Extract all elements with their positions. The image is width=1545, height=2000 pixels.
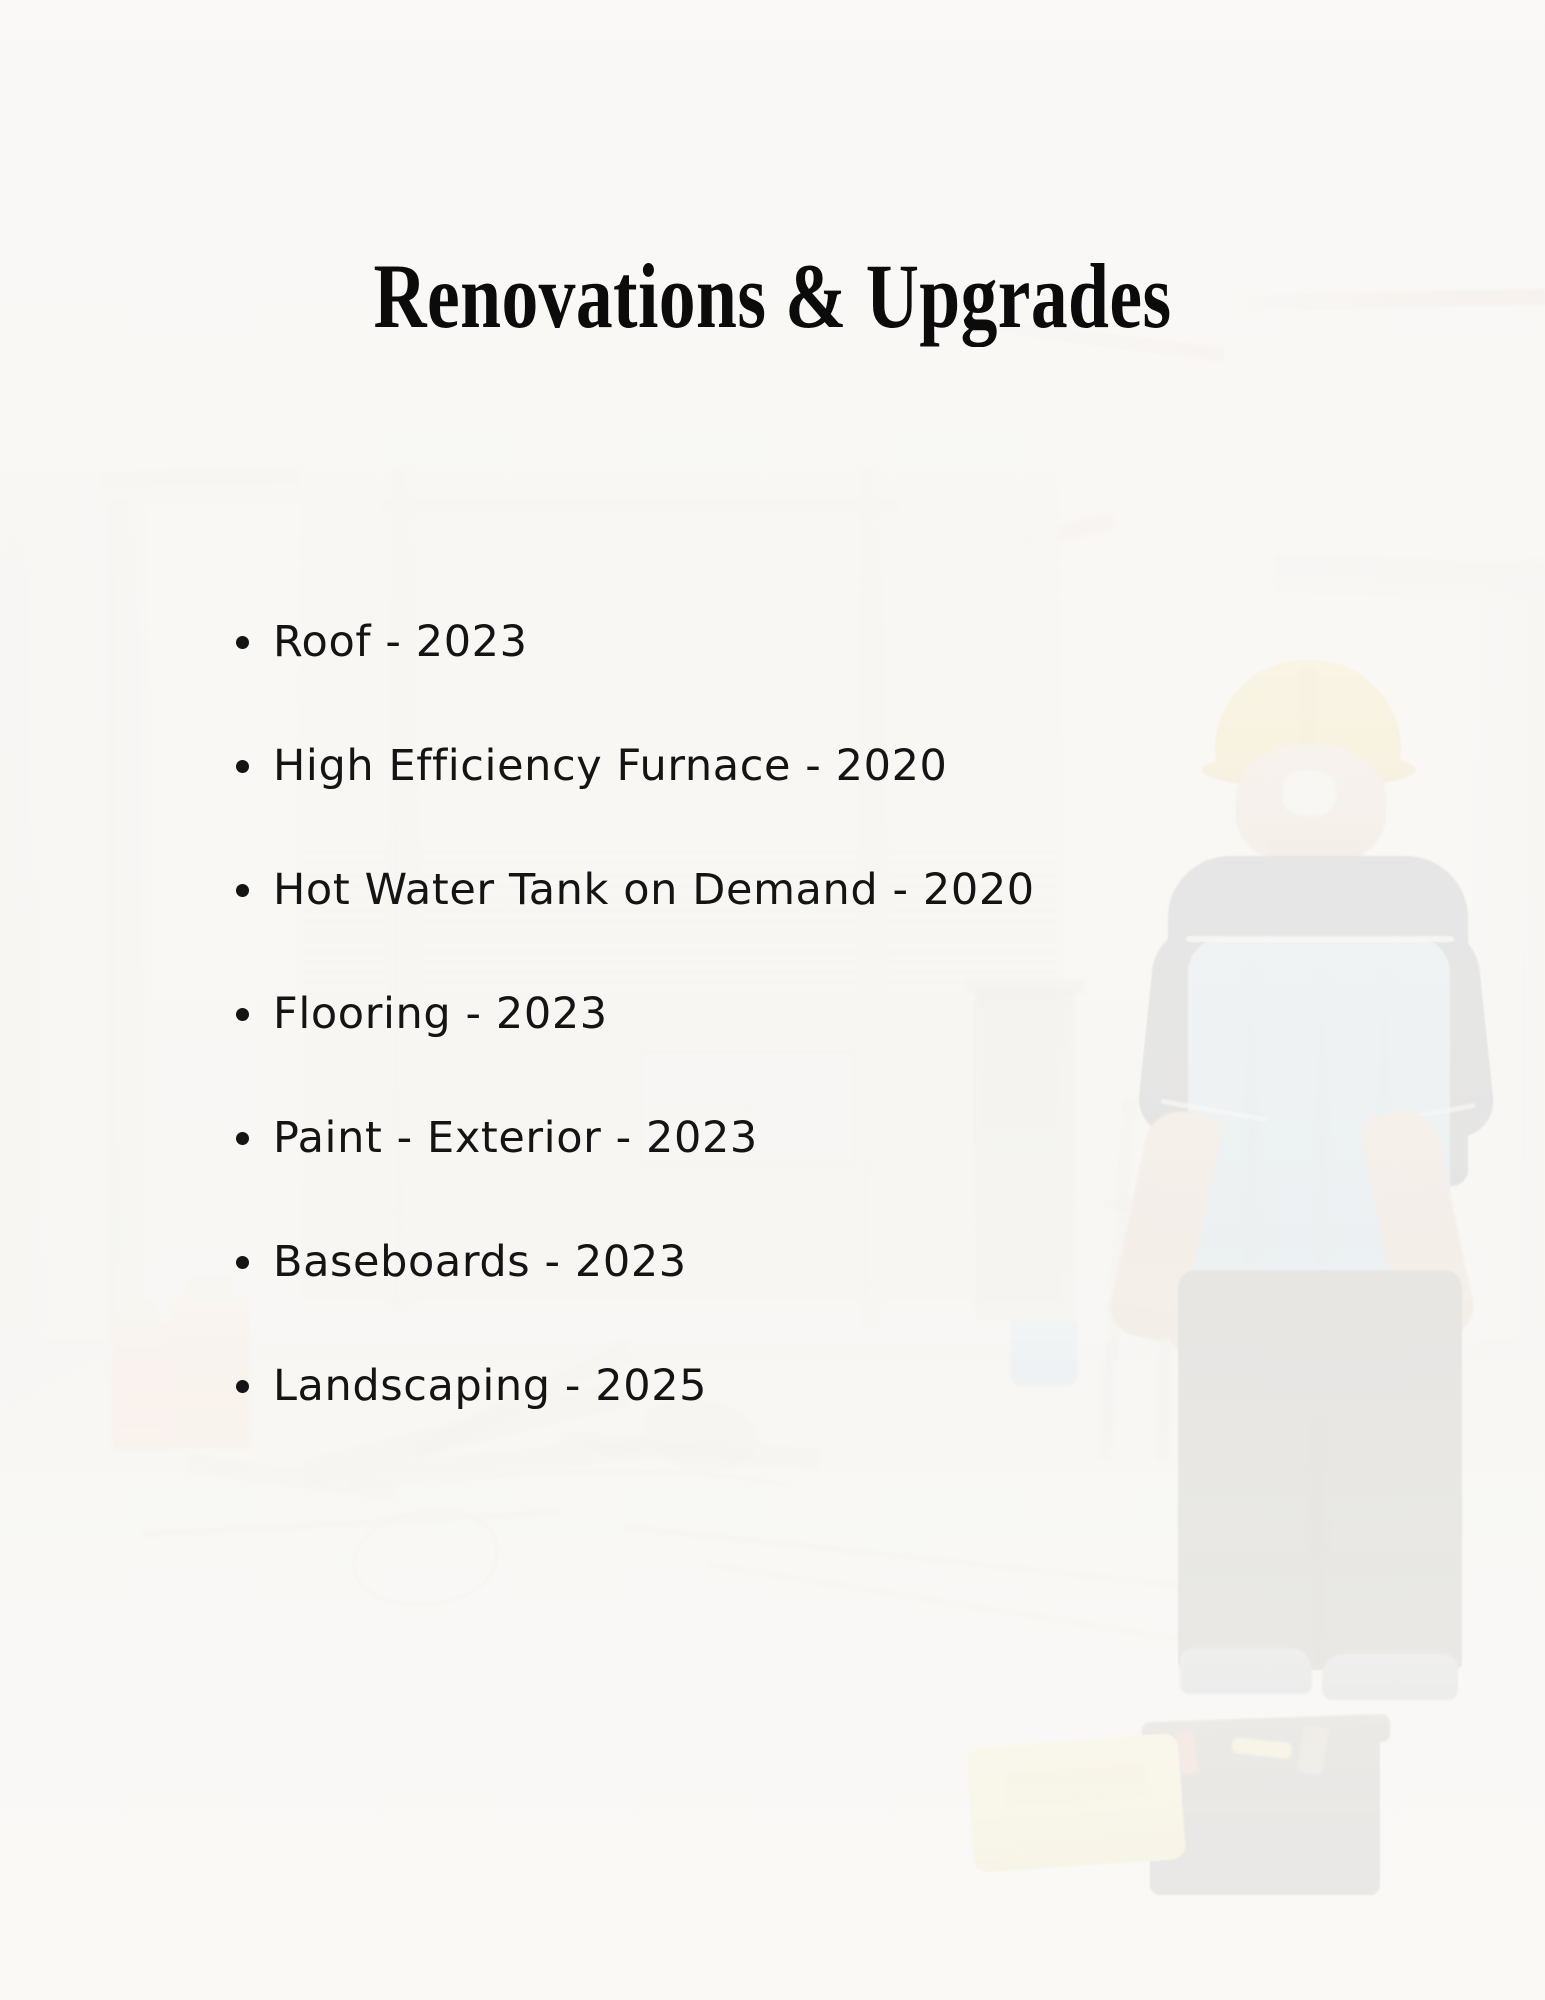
bullet-dot-icon [236, 1380, 249, 1393]
renovations-list: Roof - 2023 High Efficiency Furnace - 20… [236, 580, 1425, 1448]
list-item-label: High Efficiency Furnace - 2020 [273, 741, 948, 791]
bullet-dot-icon [236, 760, 249, 773]
bullet-dot-icon [236, 636, 249, 649]
list-item: Roof - 2023 [236, 580, 1425, 704]
list-item-label: Paint - Exterior - 2023 [273, 1113, 758, 1163]
page-title: Renovations & Upgrades [155, 248, 1391, 346]
list-item: High Efficiency Furnace - 2020 [236, 704, 1425, 828]
list-item: Baseboards - 2023 [236, 1200, 1425, 1324]
bullet-dot-icon [236, 1132, 249, 1145]
list-item-label: Hot Water Tank on Demand - 2020 [273, 865, 1035, 915]
bullet-dot-icon [236, 1256, 249, 1269]
list-item-label: Landscaping - 2025 [273, 1361, 707, 1411]
list-item: Paint - Exterior - 2023 [236, 1076, 1425, 1200]
list-item-label: Roof - 2023 [273, 617, 528, 667]
list-item: Flooring - 2023 [236, 952, 1425, 1076]
renovations-upgrades-page: Renovations & Upgrades Roof - 2023 High … [0, 0, 1545, 2000]
list-item-label: Flooring - 2023 [273, 989, 608, 1039]
list-item: Hot Water Tank on Demand - 2020 [236, 828, 1425, 952]
bullet-dot-icon [236, 884, 249, 897]
list-item: Landscaping - 2025 [236, 1324, 1425, 1448]
list-item-label: Baseboards - 2023 [273, 1237, 687, 1287]
bullet-dot-icon [236, 1008, 249, 1021]
page-content: Renovations & Upgrades Roof - 2023 High … [0, 0, 1545, 2000]
